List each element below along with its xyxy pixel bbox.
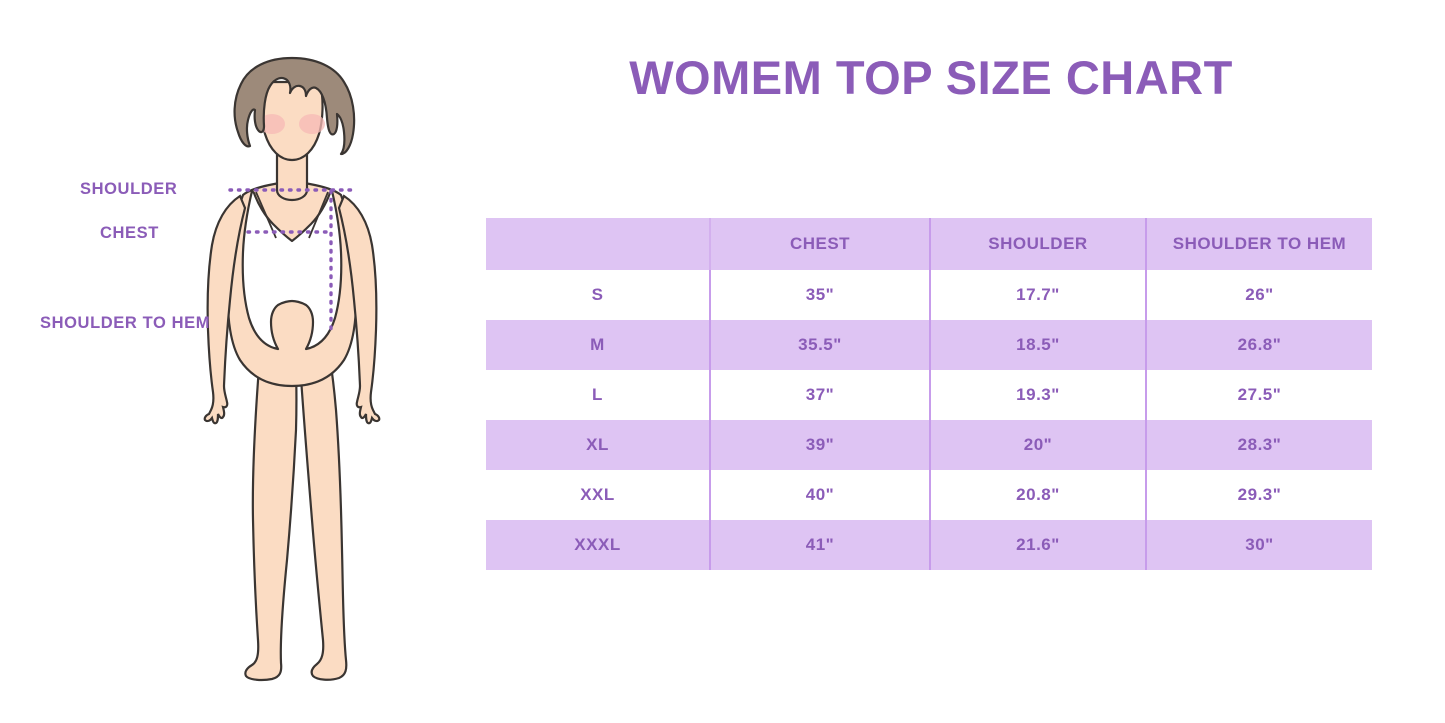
chest-cell: 35" (710, 270, 930, 320)
size-cell: M (486, 320, 710, 370)
table-row: M35.5"18.5"26.8" (486, 320, 1372, 370)
size-cell: S (486, 270, 710, 320)
size-cell: XL (486, 420, 710, 470)
table-row: XXL40"20.8"29.3" (486, 470, 1372, 520)
label-chest: CHEST (100, 224, 159, 243)
shoulder-cell: 20.8" (930, 470, 1146, 520)
size-table: CHEST SHOULDER SHOULDER TO HEM S35"17.7"… (486, 218, 1372, 570)
body-figure-illustration (0, 0, 470, 723)
shoulder-to-hem-cell: 28.3" (1146, 420, 1372, 470)
right-cheek-blush (299, 114, 325, 134)
chest-cell: 39" (710, 420, 930, 470)
shoulder-cell: 21.6" (930, 520, 1146, 570)
shoulder-to-hem-cell: 26.8" (1146, 320, 1372, 370)
label-shoulder: SHOULDER (80, 180, 177, 199)
table-row: L37"19.3"27.5" (486, 370, 1372, 420)
column-header-size (486, 218, 710, 270)
chest-cell: 40" (710, 470, 930, 520)
page-title: WOMEM TOP SIZE CHART (486, 50, 1376, 105)
chest-cell: 35.5" (710, 320, 930, 370)
shoulder-to-hem-cell: 26" (1146, 270, 1372, 320)
chest-cell: 37" (710, 370, 930, 420)
size-chart-page: WOMEM TOP SIZE CHART (0, 0, 1445, 723)
shoulder-cell: 18.5" (930, 320, 1146, 370)
table-row: S35"17.7"26" (486, 270, 1372, 320)
size-cell: XXXL (486, 520, 710, 570)
label-shoulder-to-hem: SHOULDER TO HEM (40, 314, 210, 333)
column-header-shoulder: SHOULDER (930, 218, 1146, 270)
table-body: S35"17.7"26"M35.5"18.5"26.8"L37"19.3"27.… (486, 270, 1372, 570)
shoulder-to-hem-cell: 30" (1146, 520, 1372, 570)
shoulder-cell: 19.3" (930, 370, 1146, 420)
female-body-figure-icon (0, 0, 470, 723)
shoulder-to-hem-cell: 29.3" (1146, 470, 1372, 520)
table-header-row: CHEST SHOULDER SHOULDER TO HEM (486, 218, 1372, 270)
size-table-container: CHEST SHOULDER SHOULDER TO HEM S35"17.7"… (486, 218, 1372, 570)
table-row: XL39"20"28.3" (486, 420, 1372, 470)
column-header-shoulder-to-hem: SHOULDER TO HEM (1146, 218, 1372, 270)
shoulder-to-hem-cell: 27.5" (1146, 370, 1372, 420)
table-row: XXXL41"21.6"30" (486, 520, 1372, 570)
shoulder-cell: 20" (930, 420, 1146, 470)
chest-cell: 41" (710, 520, 930, 570)
shoulder-cell: 17.7" (930, 270, 1146, 320)
column-header-chest: CHEST (710, 218, 930, 270)
table-header: CHEST SHOULDER SHOULDER TO HEM (486, 218, 1372, 270)
size-cell: L (486, 370, 710, 420)
size-cell: XXL (486, 470, 710, 520)
